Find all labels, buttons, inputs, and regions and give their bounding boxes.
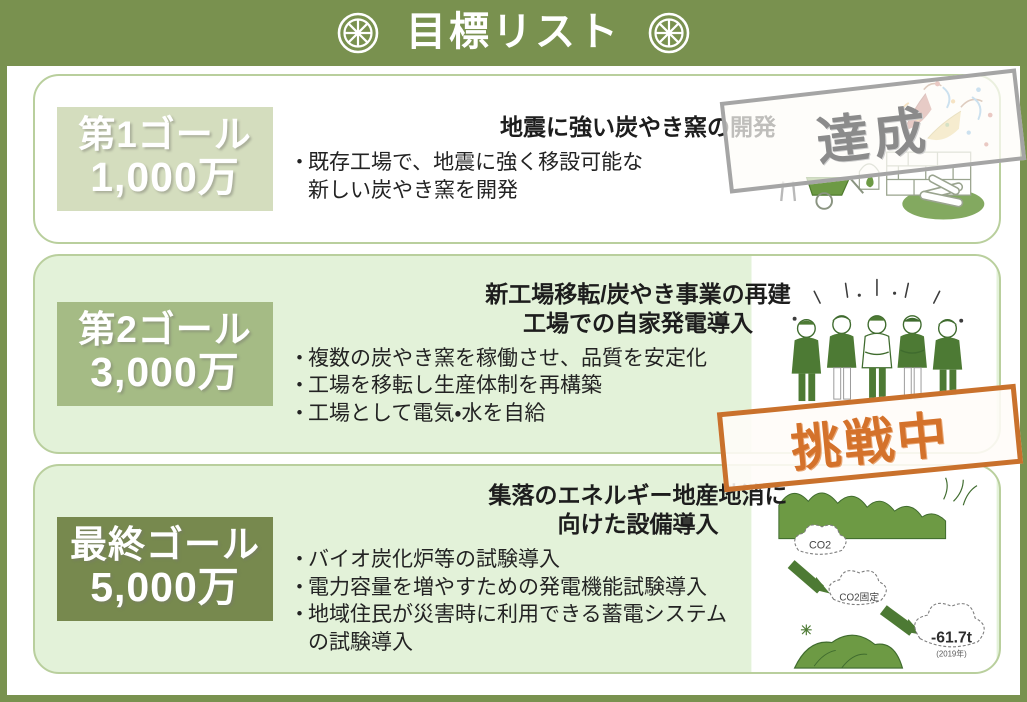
citrus-wheel-icon — [336, 11, 380, 55]
goal-badge-3: 最終ゴール 5,000万 — [57, 517, 273, 621]
list-item: バイオ炭化炉等の試験導入 — [291, 546, 985, 574]
goal-badge-amount: 3,000万 — [63, 350, 267, 394]
goal-badge-label: 第2ゴール — [63, 310, 267, 350]
list-item: 電力容量を増やすための発電機能試験導入 — [291, 574, 985, 602]
goal-title: 集落のエネルギー地産地消に 向けた設備導入 — [291, 481, 985, 539]
goal-bullets: バイオ炭化炉等の試験導入 電力容量を増やすための発電機能試験導入 地域住民が災害… — [291, 546, 985, 657]
goal-body-3: 集落のエネルギー地産地消に 向けた設備導入 バイオ炭化炉等の試験導入 電力容量を… — [273, 475, 999, 662]
goal-list-poster: 目標リスト 第1ゴール 1,000万 地震 — [0, 0, 1027, 702]
status-badge-in-progress-label: 挑戦中 — [787, 395, 952, 482]
status-badge-achieved-label: 達成 — [812, 87, 934, 174]
goal-badge-label: 最終ゴール — [63, 525, 267, 565]
citrus-wheel-icon — [647, 11, 691, 55]
page-title: 目標リスト — [406, 12, 621, 55]
goal-card-3[interactable]: 最終ゴール 5,000万 集落のエネルギー地産地消に 向けた設備導入 バイオ炭化… — [33, 464, 1001, 674]
goal-badge-2: 第2ゴール 3,000万 — [57, 302, 273, 406]
header-band: 目標リスト — [0, 0, 1027, 66]
list-item: 複数の炭やき窯を稼働させ、品質を安定化 — [291, 345, 985, 373]
goal-badge-amount: 1,000万 — [63, 155, 267, 199]
goal-badge-label: 第1ゴール — [63, 115, 267, 155]
goal-badge-1: 第1ゴール 1,000万 — [57, 107, 273, 211]
goal-badge-amount: 5,000万 — [63, 565, 267, 609]
goal-title: 新工場移転/炭やき事業の再建 工場での自家発電導入 — [291, 280, 985, 338]
list-item: 地域住民が災害時に利用できる蓄電システム の試験導入 — [291, 601, 985, 656]
